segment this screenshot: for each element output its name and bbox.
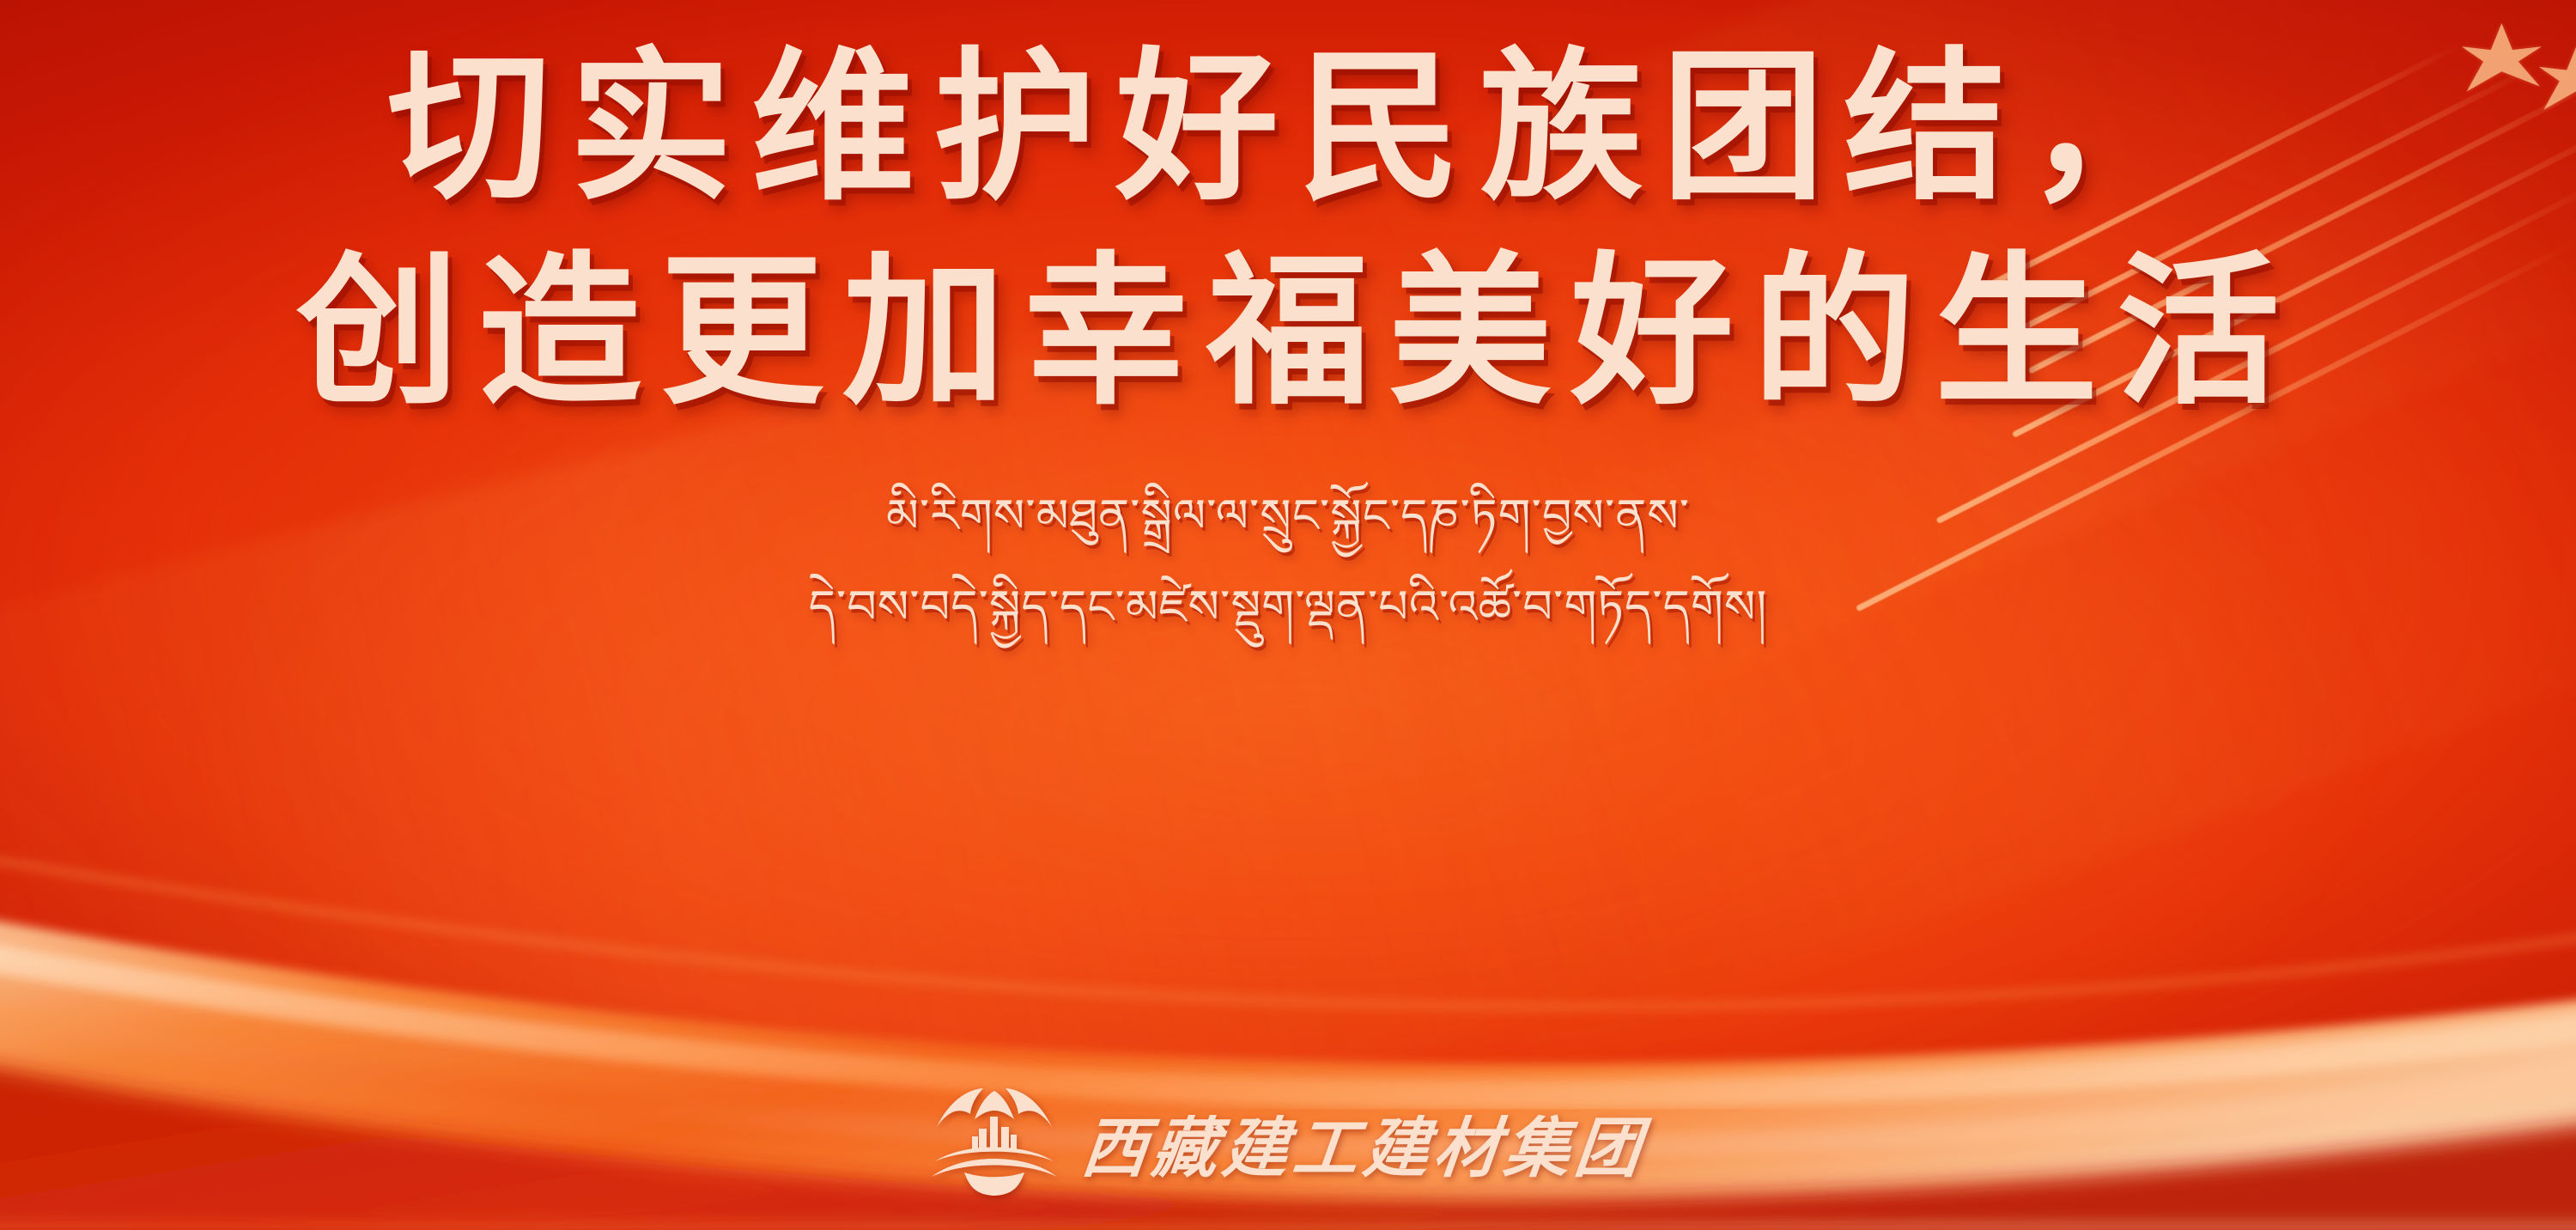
banner-content: 切实维护好民族团结， 创造更加幸福美好的生活 མི་རིགས་མཐུན་སྒྲི… (0, 0, 2576, 1230)
company-logo: 西藏建工建材集团 (930, 1087, 1646, 1197)
mountain-bridge-logo-icon (930, 1087, 1059, 1197)
tibetan-line-1: མི་རིགས་མཐུན་སྒྲིལ་ལ་སྲུང་སྐྱོང་དཎ་ཏིག་བ… (886, 480, 1690, 552)
company-name: 西藏建工建材集团 (1078, 1095, 1651, 1190)
tibetan-line-2: དེ་བས་བདེ་སྐྱིད་དང་མཛེས་སྡུག་ལྡན་པའི་འཚོ… (809, 571, 1768, 643)
slogan-line-2: 创造更加幸福美好的生活 (277, 249, 2299, 421)
slogan-line-1: 切实维护好民族团结， (368, 45, 2208, 216)
slogan-banner: 切实维护好民族团结， 创造更加幸福美好的生活 མི་རིགས་མཐུན་སྒྲི… (0, 0, 2576, 1230)
